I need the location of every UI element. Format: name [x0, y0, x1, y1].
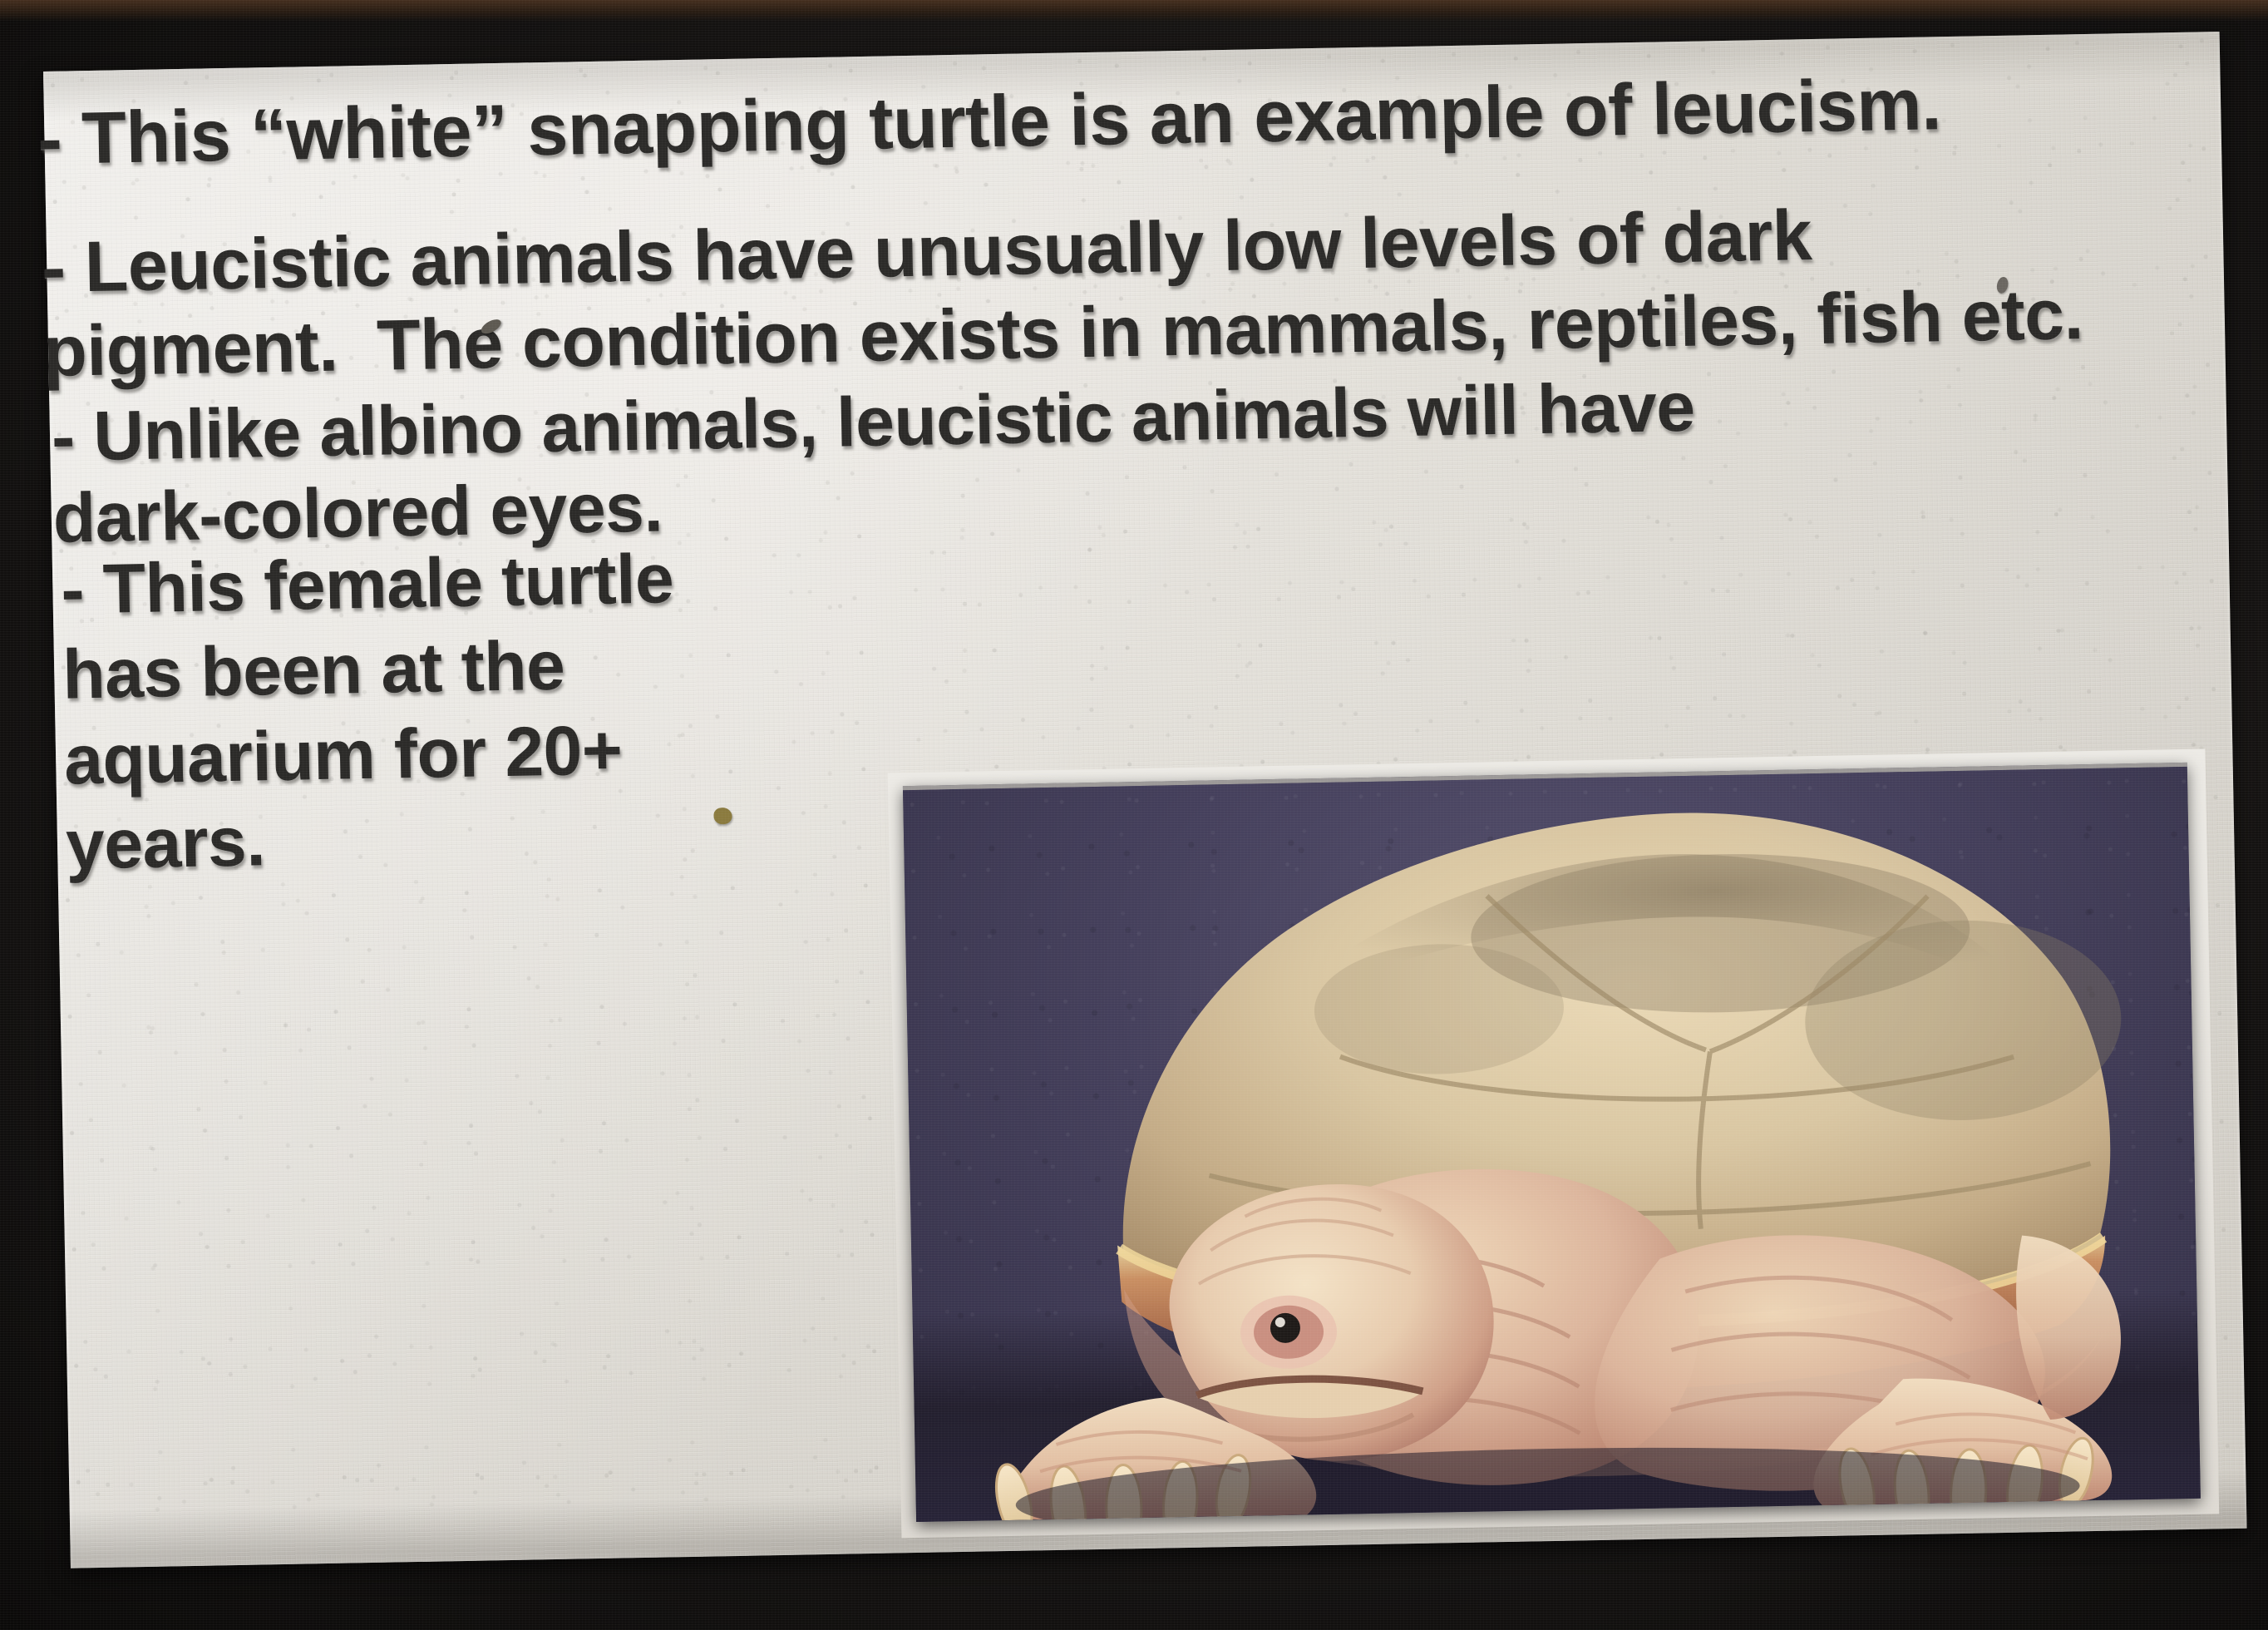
- paragraph-leucism-definition: - This “white” snapping turtle is an exa…: [37, 57, 2200, 182]
- frame-top-highlight: [0, 0, 2268, 22]
- paragraph-dark-eyes: - Unlike albino animals, leucistic anima…: [51, 359, 2032, 559]
- sign-panel: - This “white” snapping turtle is an exa…: [43, 32, 2247, 1568]
- sign-outer-frame: - This “white” snapping turtle is an exa…: [0, 0, 2268, 1630]
- turtle-photograph: [903, 763, 2201, 1522]
- turtle-illustration: [903, 767, 2201, 1522]
- debris-speck-middle: [713, 808, 732, 824]
- sign-panel-wrapper: - This “white” snapping turtle is an exa…: [43, 32, 2247, 1568]
- paragraph-aquarium-tenure: - This female turtle has been at the aqu…: [60, 533, 814, 887]
